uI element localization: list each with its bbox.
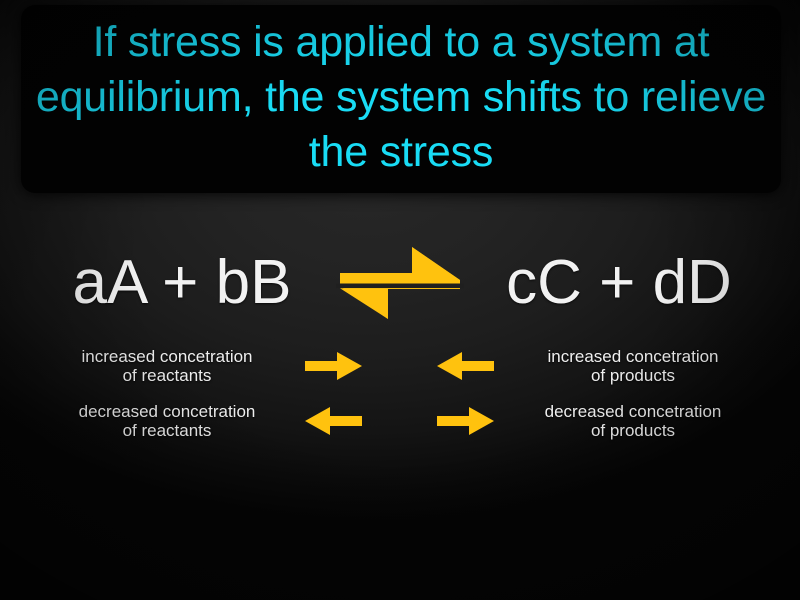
shift-label-right: decreased concetration of products <box>499 402 767 440</box>
shift-conditions-group: increased concetration of reactants incr… <box>0 338 800 448</box>
shift-label-left-line1: decreased concetration <box>79 402 256 421</box>
shift-label-left: increased concetration of reactants <box>33 347 301 385</box>
shift-label-right-line1: increased concetration <box>547 347 718 366</box>
shift-label-right: increased concetration of products <box>499 347 767 385</box>
shift-label-right-line2: of products <box>499 421 767 440</box>
equilibrium-double-arrow-icon <box>336 239 464 327</box>
equation-reactants: aA + bB <box>36 252 336 314</box>
slide-canvas: If stress is applied to a system at equi… <box>0 0 800 600</box>
shift-label-left: decreased concetration of reactants <box>33 402 301 440</box>
title-banner: If stress is applied to a system at equi… <box>21 5 781 193</box>
chemical-equation: aA + bB cC + dD <box>0 236 800 330</box>
page-title: If stress is applied to a system at equi… <box>31 15 771 184</box>
arrow-right-icon <box>433 404 499 438</box>
arrow-right-icon <box>301 349 367 383</box>
shift-row: increased concetration of reactants incr… <box>0 338 800 393</box>
arrow-left-icon <box>301 404 367 438</box>
shift-label-left-line1: increased concetration <box>81 347 252 366</box>
shift-row: decreased concetration of reactants decr… <box>0 393 800 448</box>
shift-label-left-line2: of reactants <box>33 366 301 385</box>
arrow-left-icon <box>433 349 499 383</box>
equation-products: cC + dD <box>464 252 764 314</box>
shift-label-right-line2: of products <box>499 366 767 385</box>
shift-label-left-line2: of reactants <box>33 421 301 440</box>
shift-label-right-line1: decreased concetration <box>545 402 722 421</box>
